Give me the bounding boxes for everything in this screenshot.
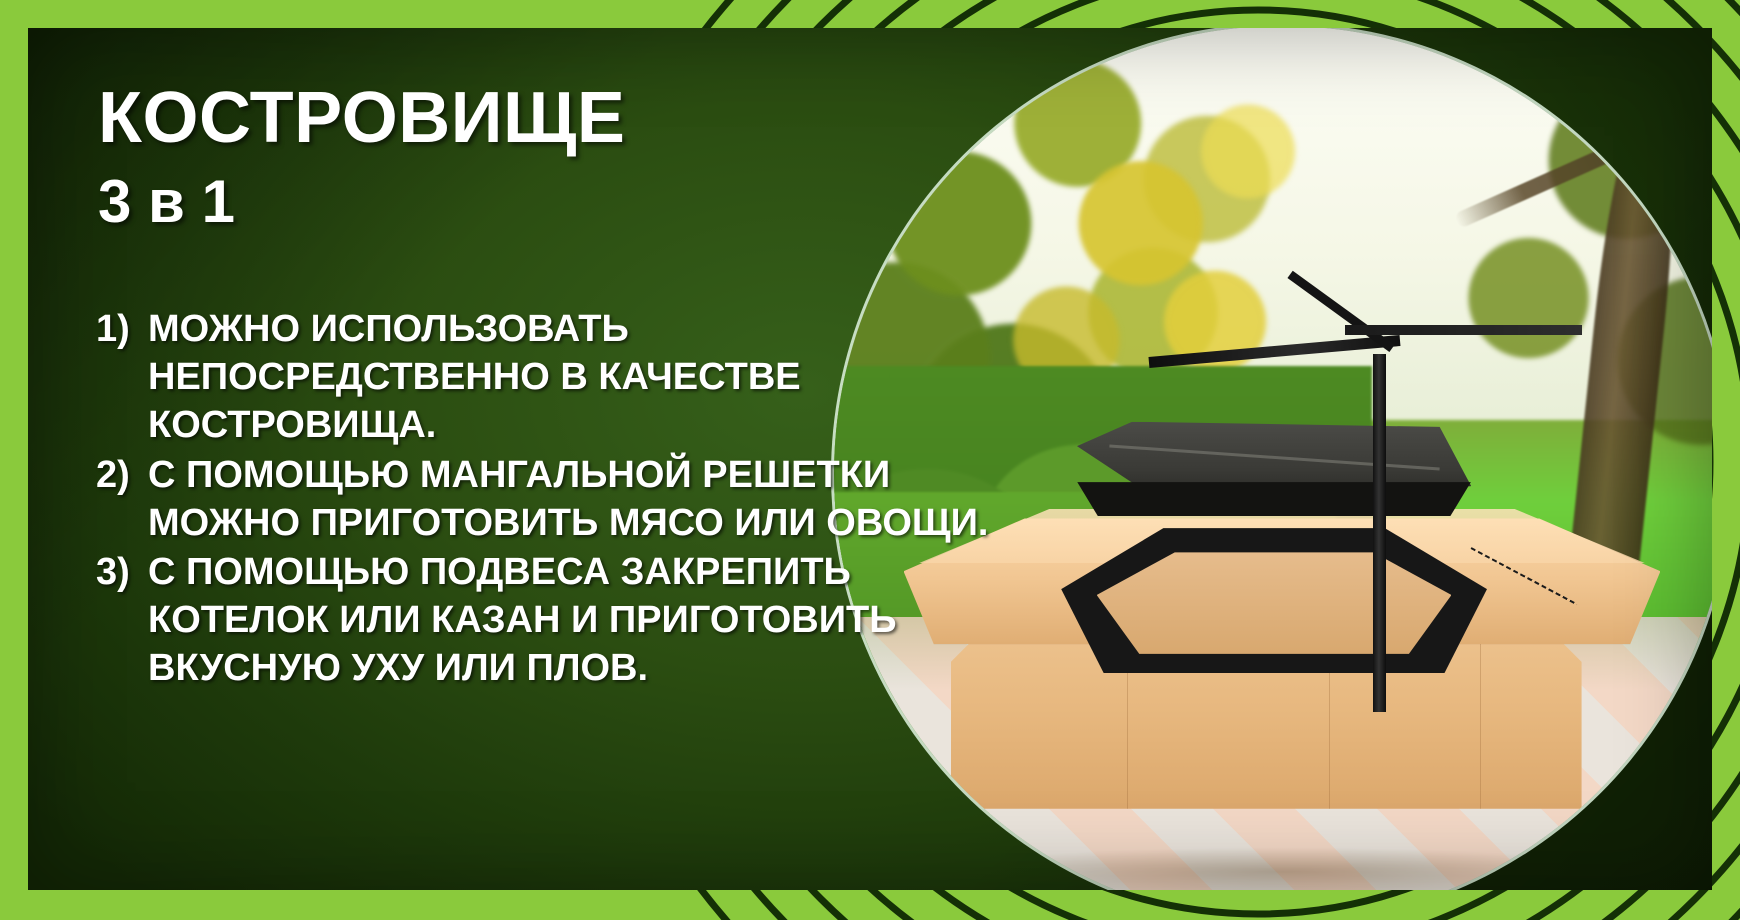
page-title: КОСТРОВИЩЕ (98, 82, 998, 154)
content-panel: КОСТРОВИЩЕ 3 в 1 1) МОЖНО ИСПОЛЬЗОВАТЬ Н… (28, 28, 1712, 890)
list-item: 2) С ПОМОЩЬЮ МАНГАЛЬНОЙ РЕШЕТКИ МОЖНО ПР… (96, 452, 998, 548)
text-column: КОСТРОВИЩЕ 3 в 1 1) МОЖНО ИСПОЛЬЗОВАТЬ Н… (68, 38, 998, 695)
page-subtitle: 3 в 1 (98, 172, 998, 232)
fire-pit-shadow (935, 847, 1629, 890)
list-item-text: МОЖНО ИСПОЛЬЗОВАТЬ НЕПОСРЕДСТВЕННО В КАЧ… (148, 306, 998, 450)
grill-grate-edge (1069, 482, 1479, 516)
poster: КОСТРОВИЩЕ 3 в 1 1) МОЖНО ИСПОЛЬЗОВАТЬ Н… (0, 0, 1740, 920)
list-item-marker: 2) (96, 452, 148, 548)
list-item: 3) С ПОМОЩЬЮ ПОДВЕСА ЗАКРЕПИТЬ КОТЕЛОК И… (96, 549, 998, 693)
list-item-text: С ПОМОЩЬЮ МАНГАЛЬНОЙ РЕШЕТКИ МОЖНО ПРИГО… (148, 452, 998, 548)
fire-ring-inner (1097, 552, 1452, 654)
fire-pit (888, 402, 1676, 886)
hanger-post-icon (1373, 354, 1386, 712)
feature-list: 1) МОЖНО ИСПОЛЬЗОВАТЬ НЕПОСРЕДСТВЕННО В … (96, 306, 998, 693)
hanger-top-rail (1345, 325, 1582, 335)
list-item-text: С ПОМОЩЬЮ ПОДВЕСА ЗАКРЕПИТЬ КОТЕЛОК ИЛИ … (148, 549, 998, 693)
list-item-marker: 3) (96, 549, 148, 693)
list-item: 1) МОЖНО ИСПОЛЬЗОВАТЬ НЕПОСРЕДСТВЕННО В … (96, 306, 998, 450)
list-item-marker: 1) (96, 306, 148, 450)
